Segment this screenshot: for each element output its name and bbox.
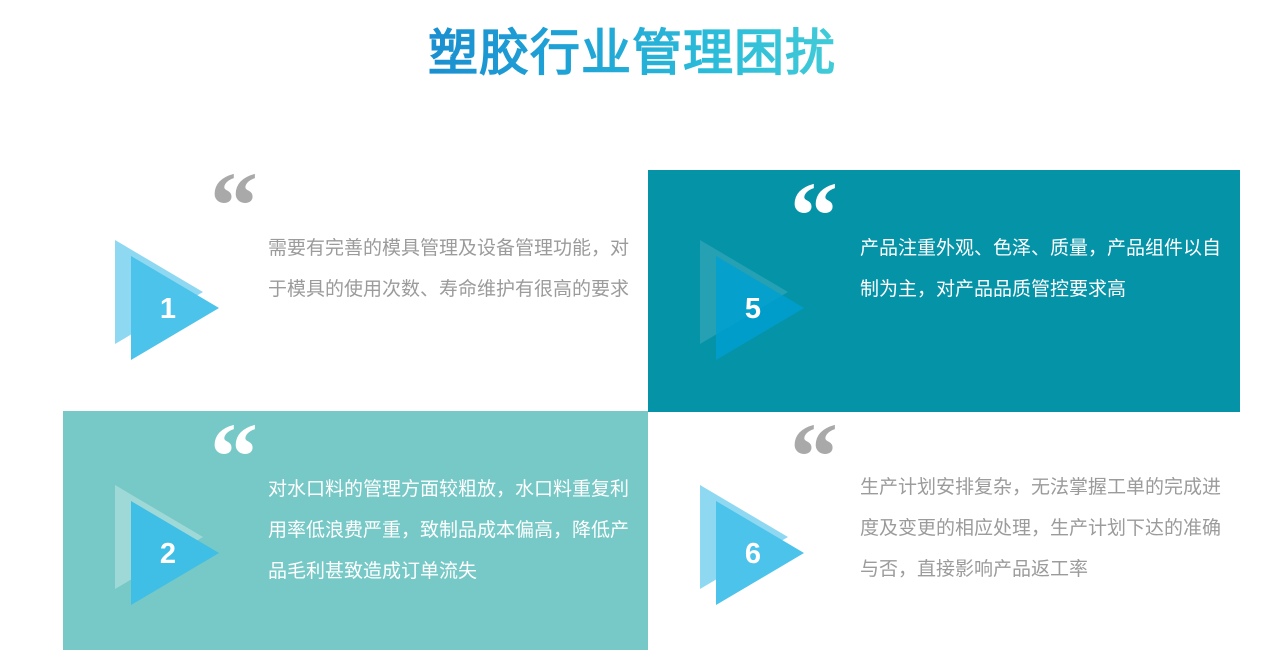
- quote-panel-6-inner: 6 “ 生产计划安排复杂，无法掌握工单的完成进度及变更的相应处理，生产计划下达的…: [648, 411, 1240, 650]
- panel-number-6: 6: [736, 537, 770, 571]
- panel-body-text-1: 需要有完善的模具管理及设备管理功能，对于模具的使用次数、寿命维护有很高的要求: [268, 228, 638, 310]
- quote-panel-6[interactable]: 6 “ 生产计划安排复杂，无法掌握工单的完成进度及变更的相应处理，生产计划下达的…: [648, 411, 1240, 650]
- quote-panel-1-inner: 1 “ 需要有完善的模具管理及设备管理功能，对于模具的使用次数、寿命维护有很高的…: [63, 166, 648, 412]
- page-title: 塑胶行业管理困扰: [428, 22, 836, 84]
- quote-panel-5[interactable]: 5 “ 产品注重外观、色泽、质量，产品组件以自制为主，对产品品质管控要求高: [648, 170, 1240, 412]
- page-title-container: 塑胶行业管理困扰: [0, 22, 1264, 84]
- quote-panel-1[interactable]: 1 “ 需要有完善的模具管理及设备管理功能，对于模具的使用次数、寿命维护有很高的…: [63, 166, 648, 412]
- panel-number-2: 2: [151, 537, 185, 571]
- panel-number-1: 1: [151, 292, 185, 326]
- quote-panel-2[interactable]: 2 “ 对水口料的管理方面较粗放，水口料重复利用率低浪费严重，致制品成本偏高，降…: [63, 411, 648, 650]
- quote-mark-icon: “: [790, 409, 836, 505]
- quote-panel-2-inner: 2 “ 对水口料的管理方面较粗放，水口料重复利用率低浪费严重，致制品成本偏高，降…: [63, 411, 648, 650]
- panel-body-text-6: 生产计划安排复杂，无法掌握工单的完成进度及变更的相应处理，生产计划下达的准确与否…: [860, 467, 1232, 590]
- quote-mark-icon: “: [210, 409, 256, 505]
- quote-mark-icon: “: [790, 168, 836, 264]
- slide-root: { "slide": { "title": "塑胶行业管理困扰", "backg…: [0, 0, 1264, 650]
- quote-panel-5-inner: 5 “ 产品注重外观、色泽、质量，产品组件以自制为主，对产品品质管控要求高: [648, 170, 1240, 412]
- quote-mark-icon: “: [210, 158, 256, 254]
- panel-body-text-2: 对水口料的管理方面较粗放，水口料重复利用率低浪费严重，致制品成本偏高，降低产品毛…: [268, 469, 640, 592]
- panel-body-text-5: 产品注重外观、色泽、质量，产品组件以自制为主，对产品品质管控要求高: [860, 228, 1228, 310]
- panel-number-5: 5: [736, 292, 770, 326]
